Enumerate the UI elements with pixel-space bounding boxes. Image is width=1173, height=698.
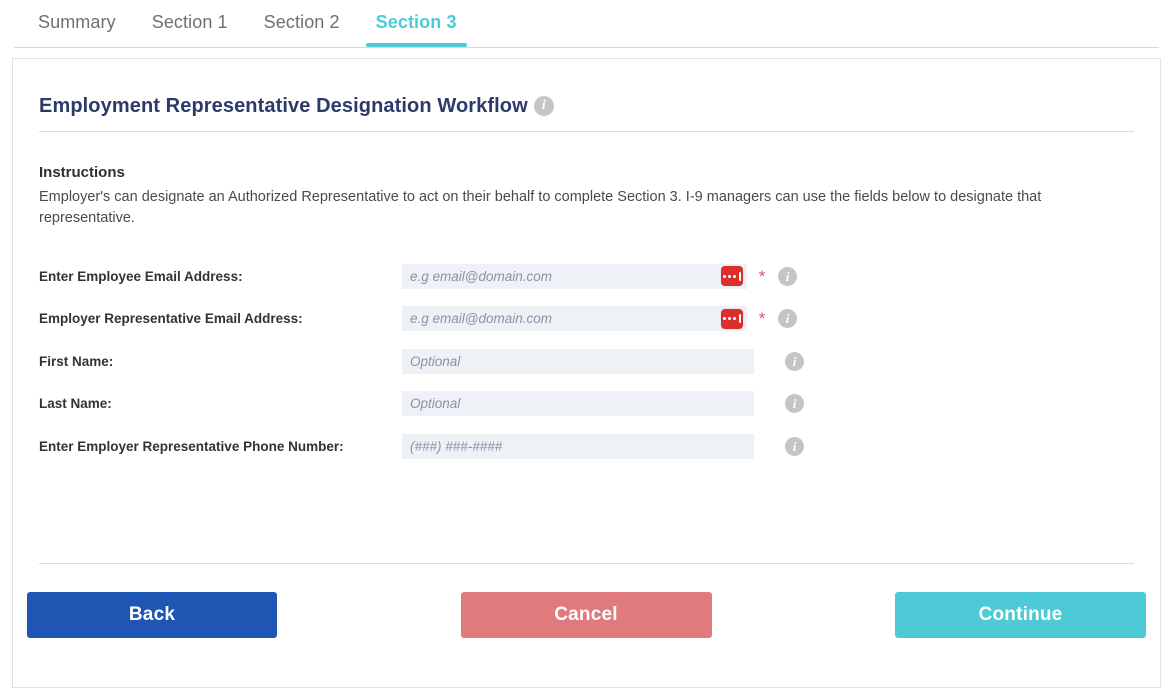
first-name-info-icon[interactable]: i: [785, 352, 804, 371]
workflow-card: Employment Representative Designation Wo…: [12, 58, 1161, 688]
field-label: Enter Employee Email Address:: [39, 269, 402, 284]
field-row-last-name: Last Name: i: [39, 383, 1134, 426]
card-header: Employment Representative Designation Wo…: [27, 59, 1146, 131]
input-wrapper: [402, 434, 754, 459]
tab-section-2[interactable]: Section 2: [246, 0, 358, 33]
cancel-button[interactable]: Cancel: [461, 592, 712, 638]
last-name-input[interactable]: [402, 391, 754, 416]
instructions-block: Instructions Employer's can designate an…: [27, 132, 1146, 229]
first-name-input[interactable]: [402, 349, 754, 374]
field-row-phone-number: Enter Employer Representative Phone Numb…: [39, 425, 1134, 468]
input-wrapper: [402, 306, 747, 331]
password-manager-icon[interactable]: [721, 309, 743, 329]
employee-email-input[interactable]: [402, 264, 747, 289]
input-wrapper: [402, 264, 747, 289]
field-row-employee-email: Enter Employee Email Address: * i: [39, 255, 1134, 298]
representative-email-input[interactable]: [402, 306, 747, 331]
field-label: Last Name:: [39, 396, 402, 411]
required-marker: *: [757, 310, 767, 327]
phone-number-info-icon[interactable]: i: [785, 437, 804, 456]
designation-form: Enter Employee Email Address: * i Employ…: [27, 229, 1146, 468]
field-label: First Name:: [39, 354, 402, 369]
continue-button[interactable]: Continue: [895, 592, 1146, 638]
field-row-representative-email: Employer Representative Email Address: *…: [39, 298, 1134, 341]
password-manager-icon[interactable]: [721, 266, 743, 286]
field-label: Employer Representative Email Address:: [39, 311, 402, 326]
tab-label: Summary: [38, 12, 116, 32]
tab-label: Section 3: [376, 12, 457, 32]
input-wrapper: [402, 349, 754, 374]
tab-label: Section 2: [264, 12, 340, 32]
input-wrapper: [402, 391, 754, 416]
representative-email-info-icon[interactable]: i: [778, 309, 797, 328]
tab-section-3[interactable]: Section 3: [358, 0, 475, 33]
required-marker: *: [757, 268, 767, 285]
instructions-text: Employer's can designate an Authorized R…: [39, 187, 1134, 229]
tab-section-1[interactable]: Section 1: [134, 0, 246, 33]
action-bar: Back Cancel Continue: [27, 592, 1146, 638]
tab-summary[interactable]: Summary: [20, 0, 134, 33]
footer-divider: [39, 563, 1134, 564]
field-label: Enter Employer Representative Phone Numb…: [39, 439, 402, 454]
tab-label: Section 1: [152, 12, 228, 32]
field-row-first-name: First Name: i: [39, 340, 1134, 383]
phone-number-input[interactable]: [402, 434, 754, 459]
instructions-heading: Instructions: [39, 164, 1134, 181]
back-button[interactable]: Back: [27, 592, 277, 638]
last-name-info-icon[interactable]: i: [785, 394, 804, 413]
title-info-icon[interactable]: i: [534, 96, 554, 116]
page-title: Employment Representative Designation Wo…: [39, 95, 528, 118]
section-tabbar: Summary Section 1 Section 2 Section 3: [0, 0, 1173, 56]
employee-email-info-icon[interactable]: i: [778, 267, 797, 286]
